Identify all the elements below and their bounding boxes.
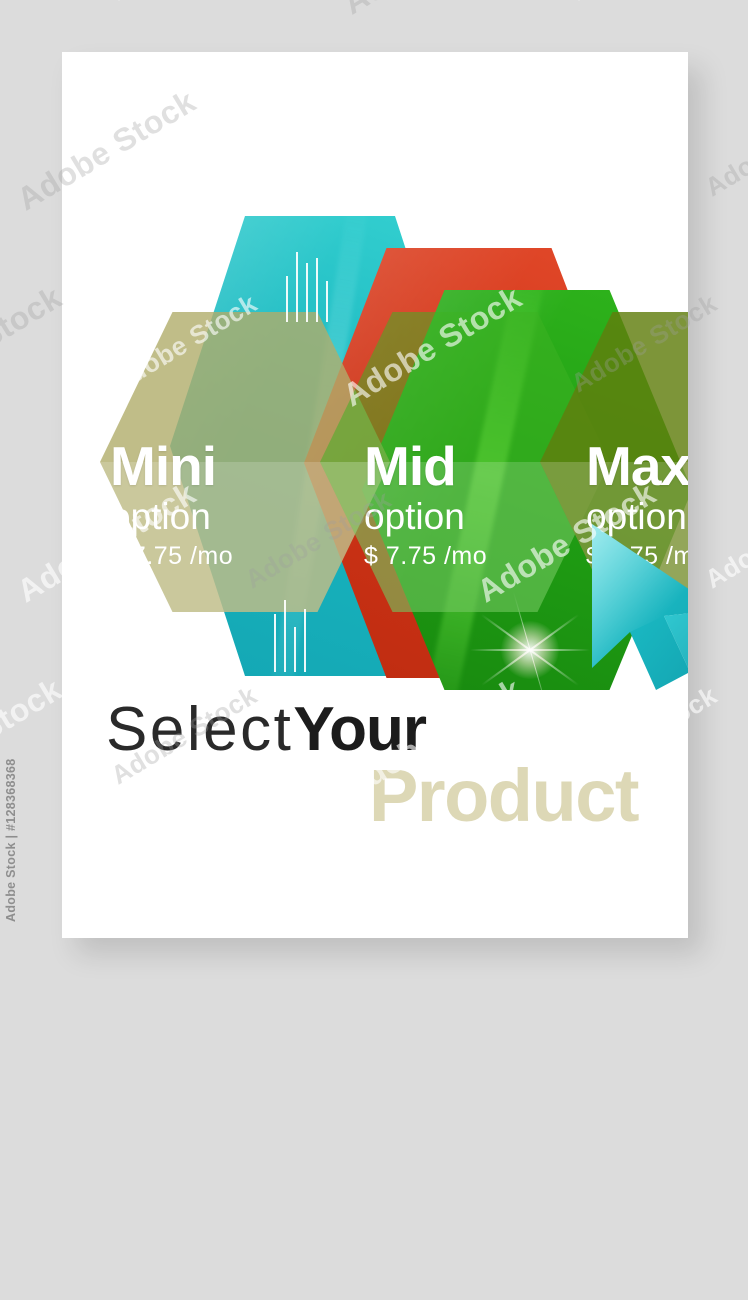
cursor-arrow-icon — [586, 520, 688, 710]
headline-line-1: SelectYour — [106, 698, 644, 762]
option-subtitle: option — [110, 498, 233, 535]
option-price: $ 7.75 /mo — [110, 544, 233, 569]
vertical-strokes-icon-top — [286, 252, 328, 322]
headline-word-select: Select — [106, 695, 293, 764]
headline-line-2: Product — [106, 758, 644, 833]
poster-artboard: Mini option $ 7.75 /mo Mid option $ 7.75… — [62, 52, 688, 938]
headline-block: SelectYour Product — [62, 698, 688, 834]
option-price: $ 7.75 /mo — [364, 544, 487, 569]
option-title: Mini — [110, 440, 233, 494]
hexagon-artwork: Mini option $ 7.75 /mo Mid option $ 7.75… — [62, 216, 688, 686]
option-label-mid: Mid option $ 7.75 /mo — [364, 440, 487, 569]
option-title: Max — [586, 440, 688, 494]
watermark-id-strip: Adobe Stock | #128368368 — [4, 758, 18, 922]
option-title: Mid — [364, 440, 487, 494]
vertical-strokes-icon-bottom — [274, 600, 306, 672]
option-subtitle: option — [364, 498, 487, 535]
option-label-mini: Mini option $ 7.75 /mo — [110, 440, 233, 569]
